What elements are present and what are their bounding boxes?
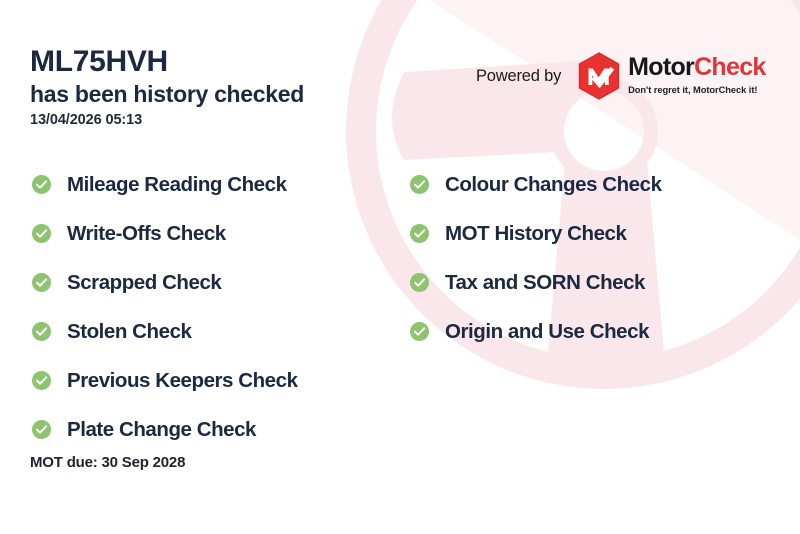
powered-by-label: Powered by xyxy=(476,67,561,86)
check-item-tax-and-sorn: Tax and SORN Check xyxy=(410,258,662,307)
motorcheck-hexagon-m-check-icon xyxy=(577,52,621,100)
check-circle-icon xyxy=(32,224,51,243)
brand-wordmark: MotorCheck xyxy=(628,53,765,81)
brand-name-motor: Motor xyxy=(628,53,694,81)
check-circle-icon xyxy=(32,420,51,439)
check-item-origin-and-use: Origin and Use Check xyxy=(410,307,662,356)
brand-tagline: Don't regret it, MotorCheck it! xyxy=(628,85,757,95)
check-label: Mileage Reading Check xyxy=(67,173,287,197)
check-label: Tax and SORN Check xyxy=(445,271,645,295)
page-title: has been history checked xyxy=(30,80,304,109)
check-circle-icon xyxy=(32,175,51,194)
check-label: Previous Keepers Check xyxy=(67,369,298,393)
brand-name-check: Check xyxy=(694,53,766,81)
check-label: Write-Offs Check xyxy=(67,222,226,246)
check-item-colour-changes: Colour Changes Check xyxy=(410,160,662,209)
check-circle-icon xyxy=(410,322,429,341)
check-circle-icon xyxy=(32,322,51,341)
check-item-mot-history: MOT History Check xyxy=(410,209,662,258)
check-timestamp: 13/04/2026 05:13 xyxy=(30,112,304,128)
check-item-plate-change: Plate Change Check xyxy=(32,405,298,454)
check-label: Scrapped Check xyxy=(67,271,221,295)
check-circle-icon xyxy=(32,371,51,390)
motorcheck-logo[interactable]: MotorCheck Don't regret it, MotorCheck i… xyxy=(577,52,800,100)
check-label: Colour Changes Check xyxy=(445,173,662,197)
check-label: Plate Change Check xyxy=(67,418,256,442)
check-label: Stolen Check xyxy=(67,320,191,344)
powered-by-row: Powered by MotorCheck Don't regret it, M… xyxy=(476,52,800,100)
check-item-stolen: Stolen Check xyxy=(32,307,298,356)
check-item-scrapped: Scrapped Check xyxy=(32,258,298,307)
mot-due-text: MOT due: 30 Sep 2028 xyxy=(30,454,185,471)
check-label: Origin and Use Check xyxy=(445,320,649,344)
check-label: MOT History Check xyxy=(445,222,626,246)
check-item-previous-keepers: Previous Keepers Check xyxy=(32,356,298,405)
logo-text-block: MotorCheck Don't regret it, MotorCheck i… xyxy=(628,55,800,98)
check-item-write-offs: Write-Offs Check xyxy=(32,209,298,258)
checks-column-left: Mileage Reading Check Write-Offs Check S… xyxy=(32,160,298,454)
check-circle-icon xyxy=(410,224,429,243)
checks-column-right: Colour Changes Check MOT History Check T… xyxy=(410,160,662,356)
check-circle-icon xyxy=(32,273,51,292)
registration-plate: ML75HVH xyxy=(30,46,304,78)
header: ML75HVH has been history checked 13/04/2… xyxy=(30,46,304,128)
check-circle-icon xyxy=(410,175,429,194)
vehicle-history-check-card: ML75HVH has been history checked 13/04/2… xyxy=(0,0,800,534)
check-item-mileage-reading: Mileage Reading Check xyxy=(32,160,298,209)
check-circle-icon xyxy=(410,273,429,292)
